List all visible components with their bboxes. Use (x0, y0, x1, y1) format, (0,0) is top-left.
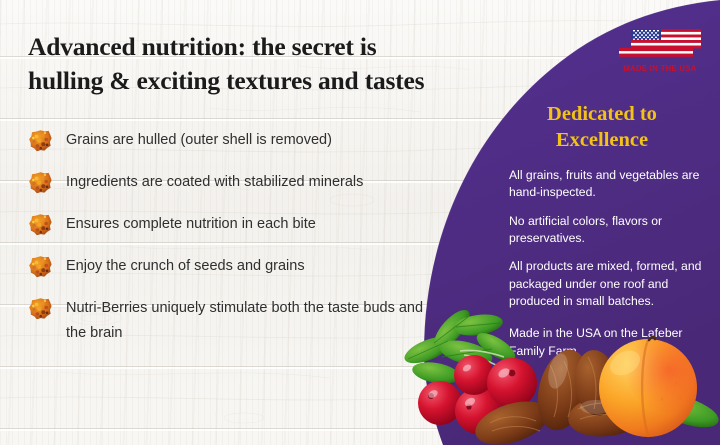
panel-title: Dedicated to Excellence (494, 101, 710, 153)
list-item-label: Ingredients are coated with stabilized m… (66, 170, 363, 195)
panel-paragraph: All grains, fruits and vegetables are ha… (509, 167, 707, 202)
list-item: Ingredients are coated with stabilized m… (28, 170, 428, 195)
nutri-berry-icon (28, 129, 53, 153)
list-item: Enjoy the crunch of seeds and grains (28, 254, 428, 279)
headline: Advanced nutrition: the secret is hullin… (28, 30, 468, 98)
nutri-berry-icon (28, 255, 53, 279)
usa-flag-icon (619, 26, 701, 62)
infographic-root: Advanced nutrition: the secret is hullin… (0, 0, 720, 445)
list-item-label: Nutri-Berries uniquely stimulate both th… (66, 296, 428, 346)
nutri-berry-icon (28, 213, 53, 237)
list-item: Nutri-Berries uniquely stimulate both th… (28, 296, 428, 346)
panel-title-line-1: Dedicated to (494, 101, 710, 127)
list-item: Grains are hulled (outer shell is remove… (28, 128, 428, 153)
panel-paragraph: All products are mixed, formed, and pack… (509, 258, 707, 310)
panel-body: All grains, fruits and vegetables are ha… (509, 167, 707, 360)
panel-title-line-2: Excellence (494, 127, 710, 153)
nutri-berry-icon (28, 297, 53, 321)
panel-paragraph: No artificial colors, flavors or preserv… (509, 213, 707, 248)
nutri-berry-icon (28, 171, 53, 195)
panel-paragraph: Made in the USA on the Lafeber Family Fa… (509, 325, 707, 360)
list-item-label: Enjoy the crunch of seeds and grains (66, 254, 305, 279)
headline-line-1: Advanced nutrition: the secret is (28, 30, 468, 64)
made-in-usa-label: MADE IN THE USA (621, 64, 698, 73)
list-item-label: Grains are hulled (outer shell is remove… (66, 128, 332, 153)
made-in-usa-badge: MADE IN THE USA (619, 26, 701, 80)
list-item-label: Ensures complete nutrition in each bite (66, 212, 316, 237)
benefits-list: Grains are hulled (outer shell is remove… (28, 128, 428, 346)
list-item: Ensures complete nutrition in each bite (28, 212, 428, 237)
headline-line-2: hulling & exciting textures and tastes (28, 64, 468, 98)
